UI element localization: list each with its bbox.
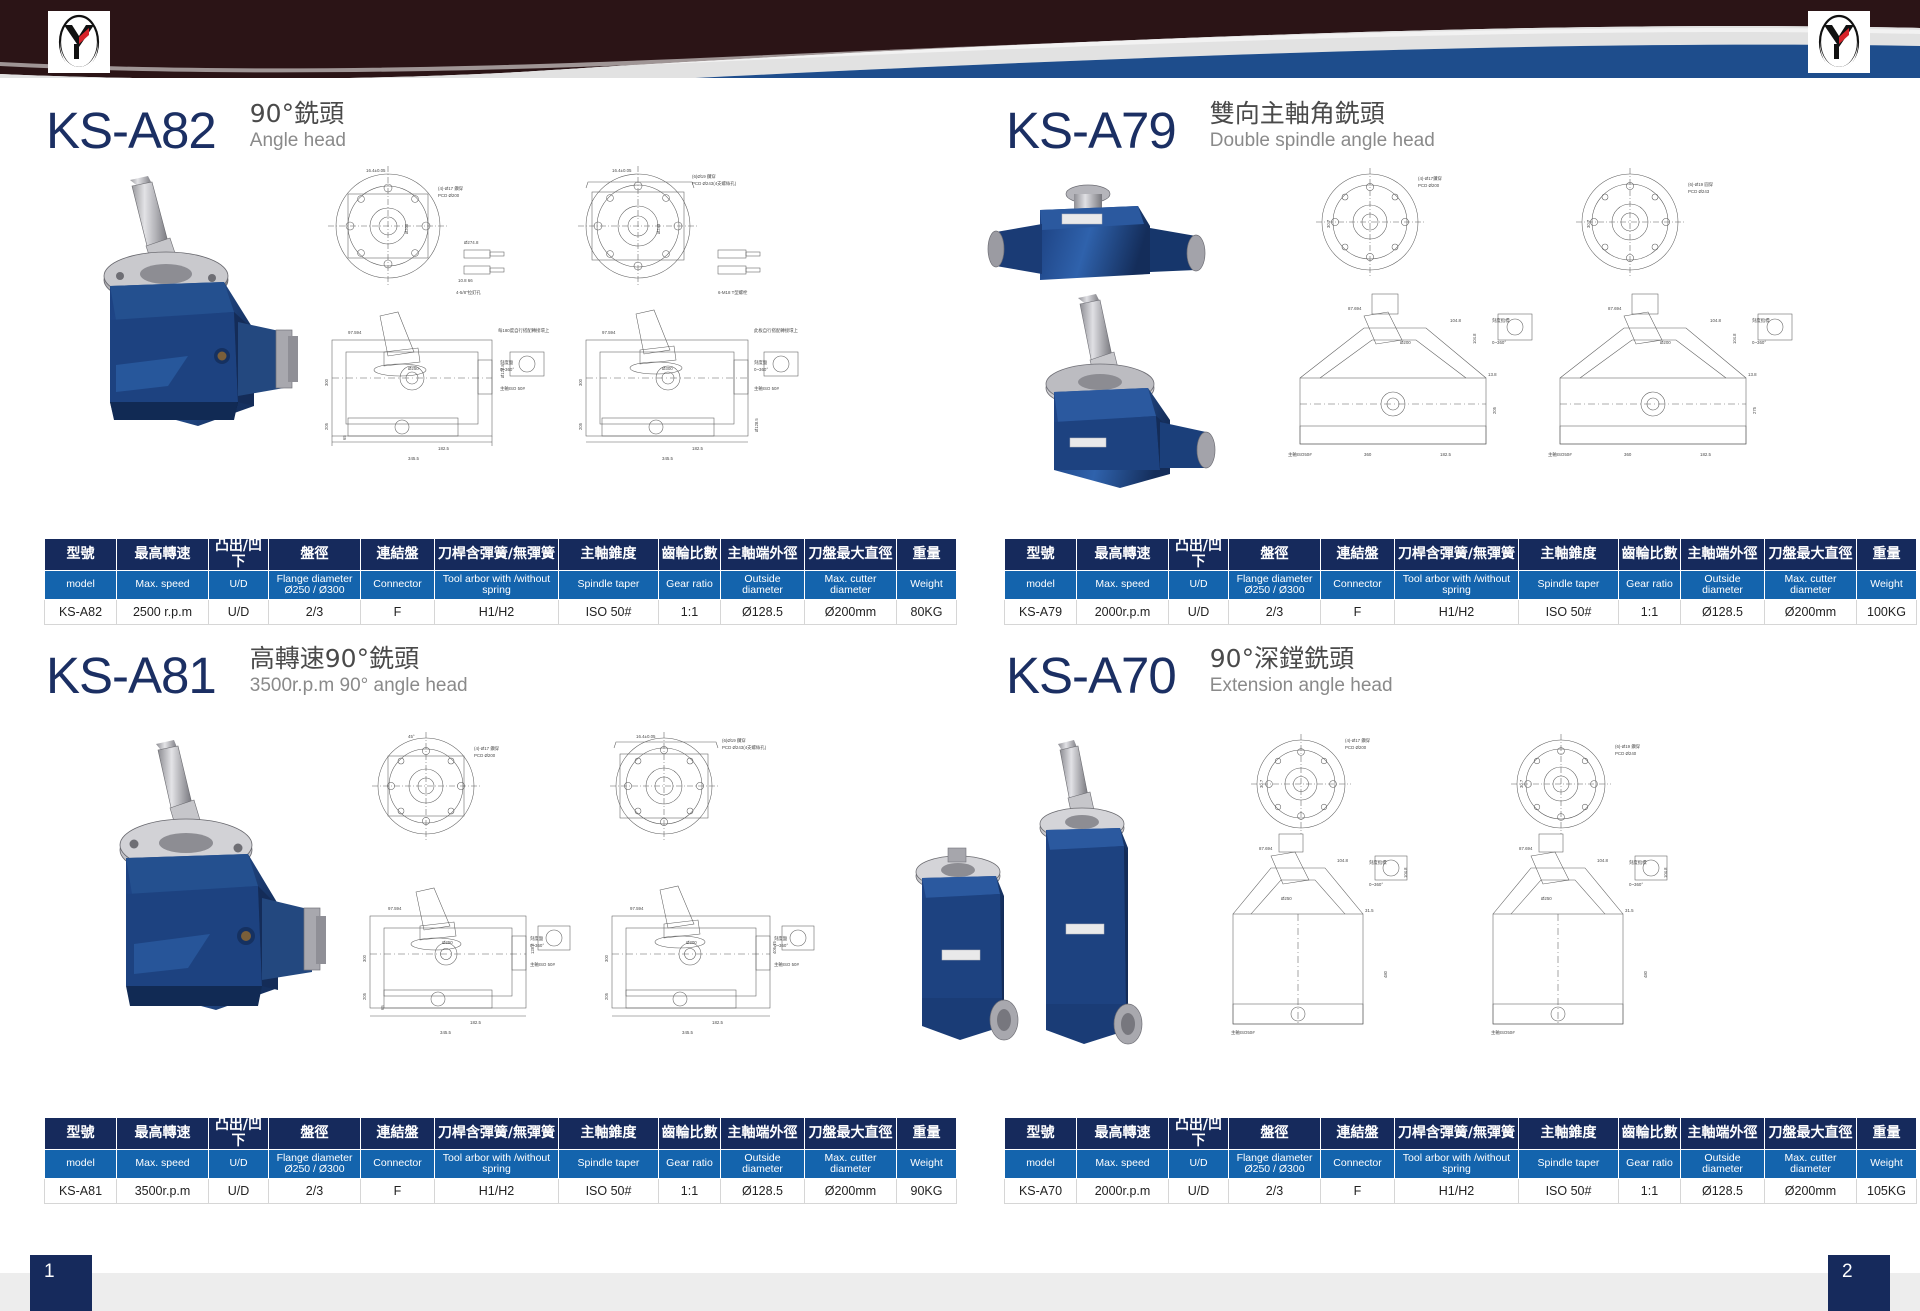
cell-gear-ratio: 1:1 bbox=[659, 600, 721, 625]
svg-text:0~360°: 0~360° bbox=[1369, 882, 1383, 887]
table-row: KS-A79 2000r.p.m U/D 2/3 F H1/H2 ISO 50#… bbox=[1005, 600, 1917, 625]
svg-text:345.5: 345.5 bbox=[682, 1030, 694, 1035]
svg-text:30.7: 30.7 bbox=[1519, 779, 1524, 788]
svg-text:刻度指標: 刻度指標 bbox=[1752, 317, 1770, 324]
svg-text:205: 205 bbox=[578, 422, 583, 430]
th-en-4: Connector bbox=[1321, 571, 1395, 600]
product-block-ks-a79: KS-A79 雙向主軸角銑頭 Double spindle angle head bbox=[960, 78, 1920, 623]
model-code: KS-A70 bbox=[1006, 650, 1176, 701]
th-cn-6: 主軸錐度 bbox=[559, 539, 659, 571]
page-number-left-value: 1 bbox=[44, 1261, 55, 1283]
th-en-9: Max. cutter diameter bbox=[805, 571, 897, 600]
th-en-10: Weight bbox=[1857, 1150, 1917, 1179]
cell-max-cutter-diameter: Ø200mm bbox=[1765, 1179, 1857, 1204]
th-cn-2: 凸出/凹下 bbox=[1169, 1118, 1229, 1150]
technical-drawings-ks-a81: 45° (4)-Ø17 鑽穿PCD Ø200 16.4±0.05 (6)Ø19 … bbox=[330, 728, 950, 1038]
th-cn-4: 連結盤 bbox=[1321, 1118, 1395, 1150]
svg-text:480: 480 bbox=[1643, 970, 1648, 978]
table-header-row-en: model Max. speed U/D Flange diameter Ø25… bbox=[1005, 1150, 1917, 1179]
cell-gear-ratio: 1:1 bbox=[659, 1179, 721, 1204]
svg-text:205: 205 bbox=[324, 422, 329, 430]
cell-ud: U/D bbox=[1169, 600, 1229, 625]
th-cn-10: 重量 bbox=[897, 1118, 957, 1150]
th-cn-5: 刀桿含彈簧/無彈簧 bbox=[435, 539, 559, 571]
svg-text:4-5/8"拉釘孔: 4-5/8"拉釘孔 bbox=[456, 289, 481, 296]
svg-text:205: 205 bbox=[604, 992, 609, 1000]
product-title-en: Angle head bbox=[250, 130, 346, 153]
svg-text:主軸ISO50#: 主軸ISO50# bbox=[1491, 1029, 1515, 1036]
th-cn-5: 刀桿含彈簧/無彈簧 bbox=[435, 1118, 559, 1150]
svg-text:Ø200: Ø200 bbox=[404, 223, 409, 234]
svg-text:300: 300 bbox=[578, 378, 583, 386]
model-code: KS-A79 bbox=[1006, 105, 1176, 156]
cell-connector: F bbox=[1321, 600, 1395, 625]
svg-text:45°: 45° bbox=[408, 734, 415, 739]
th-en-4: Connector bbox=[361, 571, 435, 600]
th-en-0: model bbox=[45, 1150, 117, 1179]
svg-text:主軸ISO50#: 主軸ISO50# bbox=[1231, 1029, 1255, 1036]
cell-flange-diameter: 2/3 bbox=[1229, 600, 1321, 625]
th-cn-8: 主軸端外徑 bbox=[721, 1118, 805, 1150]
svg-text:Ø128.5: Ø128.5 bbox=[754, 418, 759, 432]
cell-tool-arbor: H1/H2 bbox=[1395, 1179, 1519, 1204]
svg-text:刻度盤: 刻度盤 bbox=[530, 935, 544, 942]
svg-text:182.5: 182.5 bbox=[712, 1020, 724, 1025]
svg-text:PCD Ø240: PCD Ø240 bbox=[1615, 751, 1637, 756]
cell-connector: F bbox=[361, 600, 435, 625]
th-cn-5: 刀桿含彈簧/無彈簧 bbox=[1395, 1118, 1519, 1150]
th-en-1: Max. speed bbox=[117, 1150, 209, 1179]
cell-max-speed: 2000r.p.m bbox=[1077, 1179, 1169, 1204]
svg-text:360: 360 bbox=[1624, 452, 1632, 457]
th-cn-1: 最高轉速 bbox=[117, 539, 209, 571]
th-en-10: Weight bbox=[1857, 571, 1917, 600]
svg-text:300: 300 bbox=[604, 954, 609, 962]
th-en-1: Max. speed bbox=[1077, 1150, 1169, 1179]
technical-drawings-ks-a70: (4)-Ø17 鑽穿PCD Ø200 (6)-Ø19 鑽穿PCD Ø240 刻度… bbox=[1175, 728, 1895, 1043]
svg-text:Ø250: Ø250 bbox=[1281, 896, 1292, 901]
th-en-7: Gear ratio bbox=[1619, 1150, 1681, 1179]
svg-text:65: 65 bbox=[380, 1005, 385, 1010]
product-block-ks-a82: KS-A82 90°銑頭 Angle head bbox=[0, 78, 960, 623]
product-title-cn: 90°深鏜銑頭 bbox=[1210, 645, 1393, 673]
svg-text:PCD Ø200: PCD Ø200 bbox=[474, 753, 496, 758]
cell-max-cutter-diameter: Ø200mm bbox=[805, 1179, 897, 1204]
cell-connector: F bbox=[1321, 1179, 1395, 1204]
svg-text:97.594: 97.594 bbox=[388, 906, 402, 911]
svg-text:87.694: 87.694 bbox=[1348, 306, 1362, 311]
svg-text:182.5: 182.5 bbox=[438, 446, 450, 451]
th-cn-7: 齒輪比數 bbox=[659, 1118, 721, 1150]
cell-weight: 90KG bbox=[897, 1179, 957, 1204]
table-header-row-cn: 型號 最高轉速 凸出/凹下 盤徑 連結盤 刀桿含彈簧/無彈簧 主軸錐度 齒輪比數… bbox=[1005, 539, 1917, 571]
th-cn-3: 盤徑 bbox=[1229, 539, 1321, 571]
th-cn-5: 刀桿含彈簧/無彈簧 bbox=[1395, 539, 1519, 571]
th-en-5: Tool arbor with /without spring bbox=[435, 1150, 559, 1179]
svg-text:Ø250: Ø250 bbox=[442, 940, 453, 945]
th-en-2: U/D bbox=[1169, 571, 1229, 600]
svg-text:87.694: 87.694 bbox=[1519, 846, 1533, 851]
cell-connector: F bbox=[361, 1179, 435, 1204]
th-cn-1: 最高轉速 bbox=[1077, 1118, 1169, 1150]
cell-ud: U/D bbox=[209, 1179, 269, 1204]
th-en-8: Outside diameter bbox=[1681, 571, 1765, 600]
cell-ud: U/D bbox=[1169, 1179, 1229, 1204]
svg-text:97.594: 97.594 bbox=[630, 906, 644, 911]
company-logo bbox=[48, 11, 110, 73]
th-cn-2: 凸出/凹下 bbox=[209, 539, 269, 571]
svg-text:Ø200: Ø200 bbox=[1400, 340, 1411, 345]
th-cn-9: 刀盤最大直徑 bbox=[1765, 539, 1857, 571]
th-cn-8: 主軸端外徑 bbox=[721, 539, 805, 571]
cell-gear-ratio: 1:1 bbox=[1619, 600, 1681, 625]
th-cn-3: 盤徑 bbox=[1229, 1118, 1321, 1150]
model-code: KS-A82 bbox=[46, 105, 216, 156]
spec-table-ks-a70: 型號 最高轉速 凸出/凹下 盤徑 連結盤 刀桿含彈簧/無彈簧 主軸錐度 齒輪比數… bbox=[1004, 1117, 1917, 1204]
svg-text:0~360°: 0~360° bbox=[1629, 882, 1643, 887]
th-en-2: U/D bbox=[1169, 1150, 1229, 1179]
svg-text:(6)-Ø19 鑽穿: (6)-Ø19 鑽穿 bbox=[1615, 743, 1641, 750]
table-header-row-en: model Max. speed U/D Flange diameter Ø25… bbox=[45, 571, 957, 600]
th-cn-0: 型號 bbox=[1005, 1118, 1077, 1150]
cell-weight: 105KG bbox=[1857, 1179, 1917, 1204]
svg-text:(6)-Ø19 圓穿: (6)-Ø19 圓穿 bbox=[1688, 181, 1714, 188]
svg-text:104.8: 104.8 bbox=[1403, 867, 1408, 878]
svg-text:65: 65 bbox=[342, 435, 347, 440]
product-title-ks-a70: KS-A70 90°深鏜銑頭 Extension angle head bbox=[1006, 645, 1393, 701]
page-number-right-value: 2 bbox=[1842, 1261, 1853, 1283]
svg-text:480: 480 bbox=[1383, 970, 1388, 978]
table-row: KS-A81 3500r.p.m U/D 2/3 F H1/H2 ISO 50#… bbox=[45, 1179, 957, 1204]
product-title-en: Extension angle head bbox=[1210, 675, 1393, 698]
th-cn-4: 連結盤 bbox=[361, 1118, 435, 1150]
svg-text:Ø243: Ø243 bbox=[656, 223, 661, 234]
product-title-ks-a79: KS-A79 雙向主軸角銑頭 Double spindle angle head bbox=[1006, 100, 1435, 156]
svg-text:300: 300 bbox=[324, 378, 329, 386]
svg-text:PCD Ø243: PCD Ø243 bbox=[1688, 189, 1710, 194]
svg-text:30.7: 30.7 bbox=[1326, 219, 1331, 228]
svg-text:PCD Ø200: PCD Ø200 bbox=[438, 193, 460, 198]
svg-text:104.8: 104.8 bbox=[1597, 858, 1609, 863]
th-en-9: Max. cutter diameter bbox=[805, 1150, 897, 1179]
product-block-ks-a70: KS-A70 90°深鏜銑頭 Extension angle head bbox=[960, 623, 1920, 1203]
th-cn-4: 連結盤 bbox=[361, 539, 435, 571]
product-photo-ks-a70 bbox=[870, 738, 1170, 1068]
svg-text:205: 205 bbox=[1492, 406, 1497, 414]
svg-text:刻度指標: 刻度指標 bbox=[1369, 859, 1387, 866]
svg-text:13.8: 13.8 bbox=[1488, 372, 1497, 377]
svg-text:104.8: 104.8 bbox=[1337, 858, 1349, 863]
svg-text:刻度指標: 刻度指標 bbox=[1629, 859, 1647, 866]
svg-text:97.594: 97.594 bbox=[602, 330, 616, 335]
cell-weight: 100KG bbox=[1857, 600, 1917, 625]
technical-drawings-ks-a79: (4)-Ø17鑽穿PCD Ø200 (6)-Ø19 圓穿PCD Ø243 刻度指… bbox=[1260, 164, 1910, 464]
th-cn-3: 盤徑 bbox=[269, 539, 361, 571]
svg-text:主軸ISO50#: 主軸ISO50# bbox=[1288, 451, 1312, 458]
cell-tool-arbor: H1/H2 bbox=[435, 1179, 559, 1204]
th-cn-0: 型號 bbox=[1005, 539, 1077, 571]
svg-text:104.8: 104.8 bbox=[1732, 333, 1737, 344]
th-en-1: Max. speed bbox=[117, 571, 209, 600]
table-header-row-en: model Max. speed U/D Flange diameter Ø25… bbox=[45, 1150, 957, 1179]
cell-model: KS-A70 bbox=[1005, 1179, 1077, 1204]
svg-text:182.5: 182.5 bbox=[1700, 452, 1712, 457]
cell-spindle-taper: ISO 50# bbox=[559, 1179, 659, 1204]
cell-model: KS-A81 bbox=[45, 1179, 117, 1204]
th-en-5: Tool arbor with /without spring bbox=[1395, 571, 1519, 600]
cell-max-speed: 2500 r.p.m bbox=[117, 600, 209, 625]
svg-text:刻度盤: 刻度盤 bbox=[774, 935, 788, 942]
th-cn-7: 齒輪比數 bbox=[659, 539, 721, 571]
svg-text:104.8: 104.8 bbox=[1663, 867, 1668, 878]
product-title-ks-a82: KS-A82 90°銑頭 Angle head bbox=[46, 100, 346, 156]
th-cn-3: 盤徑 bbox=[269, 1118, 361, 1150]
product-title-ks-a81: KS-A81 高轉速90°銑頭 3500r.p.m 90° angle head bbox=[46, 645, 468, 701]
th-cn-6: 主軸錐度 bbox=[1519, 1118, 1619, 1150]
spec-table-ks-a82: 型號 最高轉速 凸出/凹下 盤徑 連結盤 刀桿含彈簧/無彈簧 主軸錐度 齒輪比數… bbox=[44, 538, 957, 625]
th-en-0: model bbox=[1005, 571, 1077, 600]
svg-text:205: 205 bbox=[362, 992, 367, 1000]
svg-text:87.694: 87.694 bbox=[1259, 846, 1273, 851]
svg-text:(4)-Ø17鑽穿: (4)-Ø17鑽穿 bbox=[1418, 175, 1443, 182]
th-cn-1: 最高轉速 bbox=[117, 1118, 209, 1150]
svg-text:(6)Ø19 鑽穿: (6)Ø19 鑽穿 bbox=[722, 737, 746, 744]
th-en-1: Max. speed bbox=[1077, 571, 1169, 600]
th-en-3: Flange diameter Ø250 / Ø300 bbox=[1229, 571, 1321, 600]
th-cn-9: 刀盤最大直徑 bbox=[805, 1118, 897, 1150]
catalogue-page: KS-A82 90°銑頭 Angle head bbox=[0, 0, 1920, 1311]
th-en-10: Weight bbox=[897, 1150, 957, 1179]
cell-flange-diameter: 2/3 bbox=[1229, 1179, 1321, 1204]
svg-text:16.4±0.05: 16.4±0.05 bbox=[636, 734, 656, 739]
svg-text:Ø250: Ø250 bbox=[408, 366, 419, 371]
cell-max-speed: 3500r.p.m bbox=[117, 1179, 209, 1204]
svg-text:360: 360 bbox=[1364, 452, 1372, 457]
th-en-2: U/D bbox=[209, 571, 269, 600]
th-en-7: Gear ratio bbox=[1619, 571, 1681, 600]
th-en-8: Outside diameter bbox=[1681, 1150, 1765, 1179]
svg-text:刻度指標: 刻度指標 bbox=[1492, 317, 1510, 324]
th-cn-8: 主軸端外徑 bbox=[1681, 1118, 1765, 1150]
th-cn-2: 凸出/凹下 bbox=[1169, 539, 1229, 571]
cell-max-cutter-diameter: Ø200mm bbox=[805, 600, 897, 625]
cell-outside-diameter: Ø128.5 bbox=[721, 1179, 805, 1204]
cell-spindle-taper: ISO 50# bbox=[559, 600, 659, 625]
svg-text:406.75: 406.75 bbox=[772, 941, 777, 954]
th-cn-0: 型號 bbox=[45, 539, 117, 571]
th-en-8: Outside diameter bbox=[721, 571, 805, 600]
th-cn-10: 重量 bbox=[897, 539, 957, 571]
th-cn-4: 連結盤 bbox=[1321, 539, 1395, 571]
cell-weight: 80KG bbox=[897, 600, 957, 625]
page-number-right: 2 bbox=[1828, 1255, 1890, 1311]
table-row: KS-A70 2000r.p.m U/D 2/3 F H1/H2 ISO 50#… bbox=[1005, 1179, 1917, 1204]
th-cn-7: 齒輪比數 bbox=[1619, 1118, 1681, 1150]
th-en-3: Flange diameter Ø250 / Ø300 bbox=[269, 571, 361, 600]
cell-tool-arbor: H1/H2 bbox=[1395, 600, 1519, 625]
cell-model: KS-A82 bbox=[45, 600, 117, 625]
th-cn-8: 主軸端外徑 bbox=[1681, 539, 1765, 571]
product-title-en: 3500r.p.m 90° angle head bbox=[250, 675, 468, 698]
th-en-3: Flange diameter Ø250 / Ø300 bbox=[269, 1150, 361, 1179]
svg-text:Ø300: Ø300 bbox=[686, 940, 697, 945]
th-en-6: Spindle taper bbox=[1519, 1150, 1619, 1179]
page-number-left: 1 bbox=[30, 1255, 92, 1311]
th-cn-10: 重量 bbox=[1857, 1118, 1917, 1150]
svg-text:300: 300 bbox=[362, 954, 367, 962]
svg-text:0~360°: 0~360° bbox=[754, 367, 768, 372]
svg-text:(4)-Ø17 鑽穿: (4)-Ø17 鑽穿 bbox=[474, 745, 500, 752]
svg-text:345.5: 345.5 bbox=[408, 456, 420, 461]
spec-table-ks-a79: 型號 最高轉速 凸出/凹下 盤徑 連結盤 刀桿含彈簧/無彈簧 主軸錐度 齒輪比數… bbox=[1004, 538, 1917, 625]
svg-text:刻度盤: 刻度盤 bbox=[754, 359, 768, 366]
svg-text:Ø200: Ø200 bbox=[1660, 340, 1671, 345]
svg-text:Ø128.8: Ø128.8 bbox=[500, 364, 505, 378]
svg-text:PCD Ø243(4支螺絲孔): PCD Ø243(4支螺絲孔) bbox=[722, 744, 767, 751]
th-en-0: model bbox=[1005, 1150, 1077, 1179]
model-code: KS-A81 bbox=[46, 650, 216, 701]
product-title-cn: 雙向主軸角銑頭 bbox=[1210, 100, 1435, 128]
svg-text:主軸ISO 50#: 主軸ISO 50# bbox=[754, 385, 779, 392]
table-header-row-cn: 型號 最高轉速 凸出/凹下 盤徑 連結盤 刀桿含彈簧/無彈簧 主軸錐度 齒輪比數… bbox=[45, 1118, 957, 1150]
svg-text:主軸ISO 50#: 主軸ISO 50# bbox=[774, 961, 799, 968]
svg-text:主軸ISO 50#: 主軸ISO 50# bbox=[500, 385, 525, 392]
th-cn-6: 主軸錐度 bbox=[1519, 539, 1619, 571]
cell-outside-diameter: Ø128.5 bbox=[1681, 1179, 1765, 1204]
table-header-row-cn: 型號 最高轉速 凸出/凹下 盤徑 連結盤 刀桿含彈簧/無彈簧 主軸錐度 齒輪比數… bbox=[45, 539, 957, 571]
svg-text:275: 275 bbox=[1752, 406, 1757, 414]
svg-text:128.8: 128.8 bbox=[530, 943, 535, 954]
product-title-cn: 高轉速90°銑頭 bbox=[250, 645, 468, 673]
svg-text:PCD Ø243(4支螺絲孔): PCD Ø243(4支螺絲孔) bbox=[692, 180, 737, 187]
svg-text:6-M18 T型螺栓: 6-M18 T型螺栓 bbox=[718, 289, 748, 296]
th-en-9: Max. cutter diameter bbox=[1765, 1150, 1857, 1179]
svg-text:Ø300: Ø300 bbox=[662, 366, 673, 371]
svg-text:87.694: 87.694 bbox=[1608, 306, 1622, 311]
svg-text:97.594: 97.594 bbox=[348, 330, 362, 335]
product-title-cn: 90°銑頭 bbox=[250, 100, 346, 128]
svg-text:16.4±0.05: 16.4±0.05 bbox=[612, 168, 632, 173]
th-en-6: Spindle taper bbox=[559, 571, 659, 600]
th-en-0: model bbox=[45, 571, 117, 600]
th-cn-2: 凸出/凹下 bbox=[209, 1118, 269, 1150]
th-en-7: Gear ratio bbox=[659, 1150, 721, 1179]
cell-outside-diameter: Ø128.5 bbox=[1681, 600, 1765, 625]
svg-text:182.5: 182.5 bbox=[470, 1020, 482, 1025]
svg-text:主軸ISO50#: 主軸ISO50# bbox=[1548, 451, 1572, 458]
svg-text:Ø250: Ø250 bbox=[1541, 896, 1552, 901]
svg-text:104.8: 104.8 bbox=[1472, 333, 1477, 344]
product-photo-ks-a79 bbox=[970, 170, 1260, 500]
svg-text:31.5: 31.5 bbox=[1365, 908, 1374, 913]
th-en-6: Spindle taper bbox=[1519, 571, 1619, 600]
cell-flange-diameter: 2/3 bbox=[269, 1179, 361, 1204]
svg-text:104.8: 104.8 bbox=[1450, 318, 1462, 323]
svg-text:主軸ISO 50#: 主軸ISO 50# bbox=[530, 961, 555, 968]
page-header-banner bbox=[0, 0, 1920, 78]
cell-model: KS-A79 bbox=[1005, 600, 1077, 625]
svg-text:10.8 66: 10.8 66 bbox=[458, 278, 473, 283]
svg-text:(4)-Ø17 鑽穿: (4)-Ø17 鑽穿 bbox=[1345, 737, 1371, 744]
th-en-8: Outside diameter bbox=[721, 1150, 805, 1179]
th-cn-9: 刀盤最大直徑 bbox=[1765, 1118, 1857, 1150]
th-cn-10: 重量 bbox=[1857, 539, 1917, 571]
svg-text:30.7: 30.7 bbox=[1259, 779, 1264, 788]
th-en-7: Gear ratio bbox=[659, 571, 721, 600]
cell-spindle-taper: ISO 50# bbox=[1519, 1179, 1619, 1204]
svg-text:182.5: 182.5 bbox=[692, 446, 704, 451]
svg-text:16.4±0.05: 16.4±0.05 bbox=[366, 168, 386, 173]
product-photo-ks-a82 bbox=[48, 170, 308, 470]
svg-text:此板自行搭配轉接環上: 此板自行搭配轉接環上 bbox=[754, 327, 799, 334]
svg-text:31.5: 31.5 bbox=[1625, 908, 1634, 913]
th-en-5: Tool arbor with /without spring bbox=[435, 571, 559, 600]
product-photo-ks-a81 bbox=[60, 738, 330, 1058]
svg-text:PCD Ø200: PCD Ø200 bbox=[1418, 183, 1440, 188]
th-en-6: Spindle taper bbox=[559, 1150, 659, 1179]
th-en-4: Connector bbox=[361, 1150, 435, 1179]
page-footer: 1 2 bbox=[0, 1255, 1920, 1311]
cell-outside-diameter: Ø128.5 bbox=[721, 600, 805, 625]
svg-text:0~360°: 0~360° bbox=[1492, 340, 1506, 345]
company-logo-secondary bbox=[1808, 11, 1870, 73]
th-en-9: Max. cutter diameter bbox=[1765, 571, 1857, 600]
cell-spindle-taper: ISO 50# bbox=[1519, 600, 1619, 625]
table-header-row-en: model Max. speed U/D Flange diameter Ø25… bbox=[1005, 571, 1917, 600]
cell-flange-diameter: 2/3 bbox=[269, 600, 361, 625]
cell-ud: U/D bbox=[209, 600, 269, 625]
svg-text:345.5: 345.5 bbox=[662, 456, 674, 461]
th-cn-1: 最高轉速 bbox=[1077, 539, 1169, 571]
svg-text:Ø274.8: Ø274.8 bbox=[464, 240, 479, 245]
svg-text:104.8: 104.8 bbox=[1710, 318, 1722, 323]
svg-text:(4)-Ø17 鑽穿: (4)-Ø17 鑽穿 bbox=[438, 185, 464, 192]
th-cn-7: 齒輪比數 bbox=[1619, 539, 1681, 571]
technical-drawings-ks-a82: 16.4±0.05 (4)-Ø17 鑽穿 PCD Ø200 16.4±0.05 … bbox=[288, 164, 938, 464]
svg-text:每180度自行搭配轉接環上: 每180度自行搭配轉接環上 bbox=[498, 327, 550, 334]
table-header-row-cn: 型號 最高轉速 凸出/凹下 盤徑 連結盤 刀桿含彈簧/無彈簧 主軸錐度 齒輪比數… bbox=[1005, 1118, 1917, 1150]
cell-gear-ratio: 1:1 bbox=[1619, 1179, 1681, 1204]
svg-text:0~360°: 0~360° bbox=[1752, 340, 1766, 345]
product-block-ks-a81: KS-A81 高轉速90°銑頭 3500r.p.m 90° angle head bbox=[0, 623, 960, 1203]
th-en-4: Connector bbox=[1321, 1150, 1395, 1179]
svg-text:PCD Ø200: PCD Ø200 bbox=[1345, 745, 1367, 750]
cell-max-speed: 2000r.p.m bbox=[1077, 600, 1169, 625]
spec-table-ks-a81: 型號 最高轉速 凸出/凹下 盤徑 連結盤 刀桿含彈簧/無彈簧 主軸錐度 齒輪比數… bbox=[44, 1117, 957, 1204]
cell-tool-arbor: H1/H2 bbox=[435, 600, 559, 625]
th-cn-9: 刀盤最大直徑 bbox=[805, 539, 897, 571]
th-en-3: Flange diameter Ø250 / Ø300 bbox=[1229, 1150, 1321, 1179]
table-row: KS-A82 2500 r.p.m U/D 2/3 F H1/H2 ISO 50… bbox=[45, 600, 957, 625]
th-en-10: Weight bbox=[897, 571, 957, 600]
svg-text:182.5: 182.5 bbox=[1440, 452, 1452, 457]
product-title-en: Double spindle angle head bbox=[1210, 130, 1435, 153]
cell-max-cutter-diameter: Ø200mm bbox=[1765, 600, 1857, 625]
th-cn-0: 型號 bbox=[45, 1118, 117, 1150]
th-en-5: Tool arbor with /without spring bbox=[1395, 1150, 1519, 1179]
svg-text:30.7: 30.7 bbox=[1586, 219, 1591, 228]
footer-bar bbox=[0, 1273, 1920, 1311]
th-cn-6: 主軸錐度 bbox=[559, 1118, 659, 1150]
svg-text:345.5: 345.5 bbox=[440, 1030, 452, 1035]
svg-text:(6)Ø19 鑽穿: (6)Ø19 鑽穿 bbox=[692, 173, 716, 180]
svg-text:13.8: 13.8 bbox=[1748, 372, 1757, 377]
th-en-2: U/D bbox=[209, 1150, 269, 1179]
